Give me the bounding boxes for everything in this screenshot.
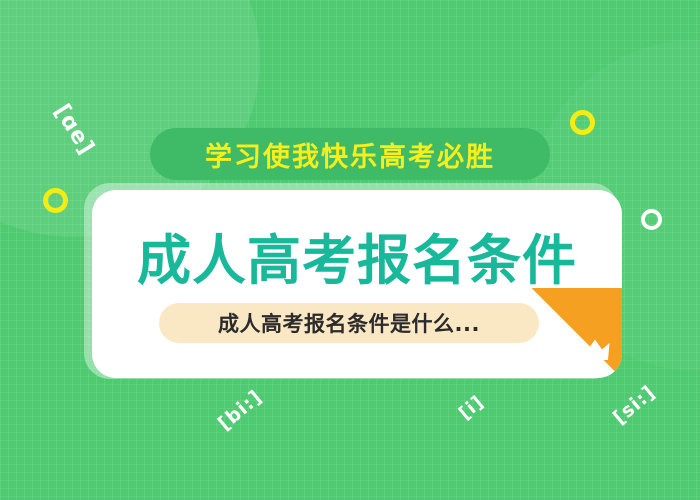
page-title: 成人高考报名条件 — [92, 216, 622, 295]
decorative-ring-white-right — [641, 209, 662, 230]
corner-wedge — [532, 288, 622, 378]
phonetic-label-bi: [bi:] — [214, 386, 267, 435]
poster-canvas: [ɑe] [bi:] [i] [si:] 学习使我快乐高考必胜 成人高考报名条件… — [0, 0, 700, 500]
banner-pill: 学习使我快乐高考必胜 — [150, 128, 550, 180]
main-card: 成人高考报名条件 成人高考报名条件是什么... — [92, 190, 622, 378]
subtitle-pill: 成人高考报名条件是什么... — [159, 303, 539, 343]
phonetic-label-i: [i] — [455, 392, 488, 425]
decorative-ring-yellow-top — [570, 110, 595, 135]
crown-icon — [580, 338, 610, 362]
subtitle-text: 成人高考报名条件是什么... — [218, 308, 480, 338]
phonetic-label-si: [si:] — [609, 381, 660, 429]
decorative-ring-yellow-left — [43, 188, 68, 213]
banner-text: 学习使我快乐高考必胜 — [205, 135, 495, 174]
